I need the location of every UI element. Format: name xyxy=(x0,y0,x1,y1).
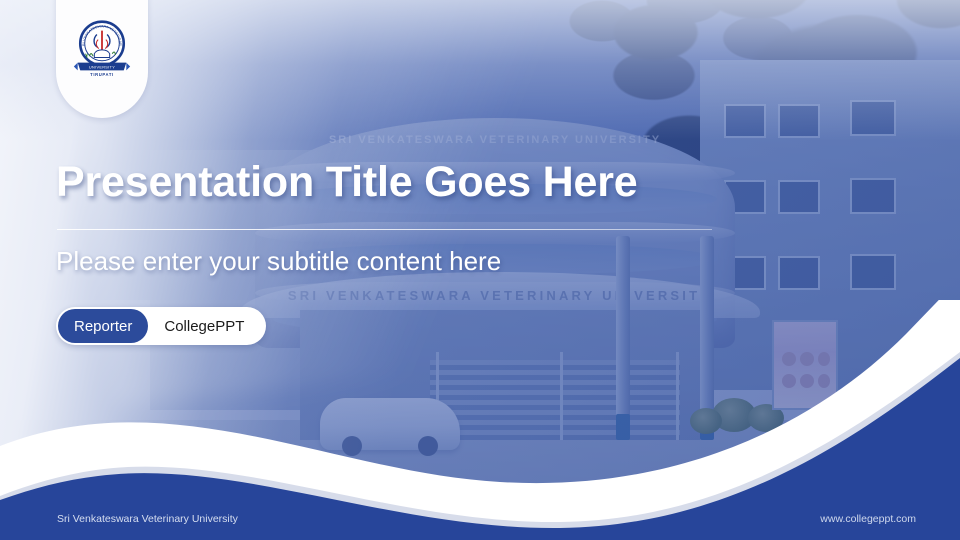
svg-text:TIRUPATI: TIRUPATI xyxy=(90,72,114,77)
page-title[interactable]: Presentation Title Goes Here xyxy=(56,158,637,207)
footer-university-name: Sri Venkateswara Veterinary University xyxy=(57,513,238,525)
page-subtitle[interactable]: Please enter your subtitle content here xyxy=(56,246,501,277)
presentation-slide: SRI VENKATESWARA VETERINARY UNIVERSITY S… xyxy=(0,0,960,540)
title-divider xyxy=(57,229,712,230)
reporter-badge[interactable]: Reporter CollegePPT xyxy=(56,307,266,345)
university-emblem-icon: SRI VENKATESWARA VETERINARY UNIVERSITY T… xyxy=(70,14,134,78)
reporter-role-label: Reporter xyxy=(58,309,148,343)
university-logo-card: SRI VENKATESWARA VETERINARY UNIVERSITY T… xyxy=(56,0,148,118)
svg-text:UNIVERSITY: UNIVERSITY xyxy=(89,65,115,69)
footer-website-url[interactable]: www.collegeppt.com xyxy=(820,513,916,525)
reporter-name-label: CollegePPT xyxy=(148,318,262,335)
